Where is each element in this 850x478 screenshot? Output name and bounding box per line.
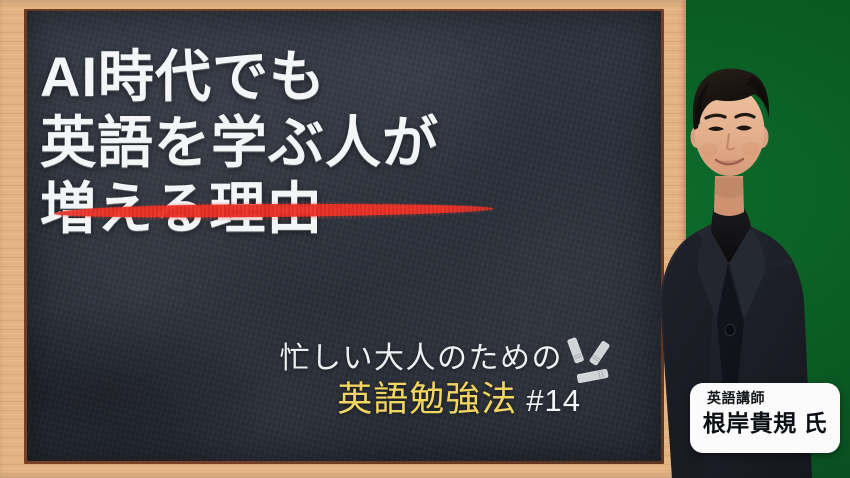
badge-name-label: 根岸貴規 氏 [690,407,840,439]
presenter-name-badge: 英語講師 根岸貴規 氏 [690,383,840,453]
subtitle-group: 忙しい大人のための 英語勉強法#14 [40,340,585,429]
subtitle-tagline: 忙しい大人のための [40,340,585,378]
blackboard: AI時代でも 英語を学ぶ人が 増える理由 忙しい大人のための 英語勉強法#14 [0,0,686,478]
headline-line-1: AI時代でも [40,44,560,110]
headline-group: AI時代でも 英語を学ぶ人が 増える理由 [40,44,560,242]
jacket-button [725,325,735,336]
headline-line-2: 英語を学ぶ人が [40,110,560,176]
series-title: 英語勉強法 [337,380,517,419]
badge-role-label: 英語講師 [690,390,840,407]
subtitle-series-row: 英語勉強法#14 [40,378,585,429]
thumbnail-canvas: AI時代でも 英語を学ぶ人が 増える理由 忙しい大人のための 英語勉強法#14 [0,0,850,478]
